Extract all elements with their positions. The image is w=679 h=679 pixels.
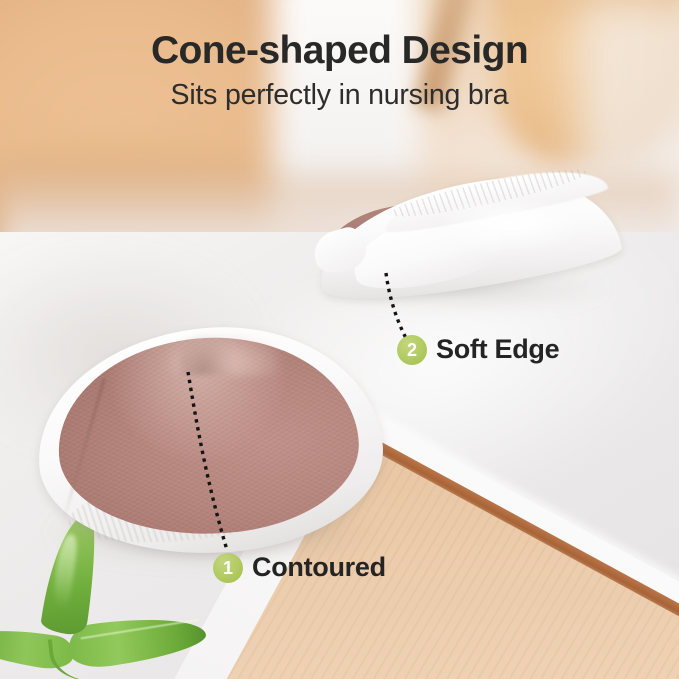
number-badge-icon: 2 <box>397 335 427 365</box>
callout-label-soft-edge: Soft Edge <box>436 334 559 365</box>
product-infographic: Cone-shaped Design Sits perfectly in nur… <box>0 0 679 679</box>
page-subtitle: Sits perfectly in nursing bra <box>0 78 679 112</box>
callout-soft-edge: 2 Soft Edge <box>397 334 559 365</box>
callout-contoured: 1 Contoured <box>213 552 386 583</box>
callout-label-contoured: Contoured <box>252 552 386 583</box>
page-title: Cone-shaped Design <box>0 30 679 72</box>
number-badge-icon: 1 <box>213 553 243 583</box>
heading-block: Cone-shaped Design Sits perfectly in nur… <box>0 30 679 112</box>
